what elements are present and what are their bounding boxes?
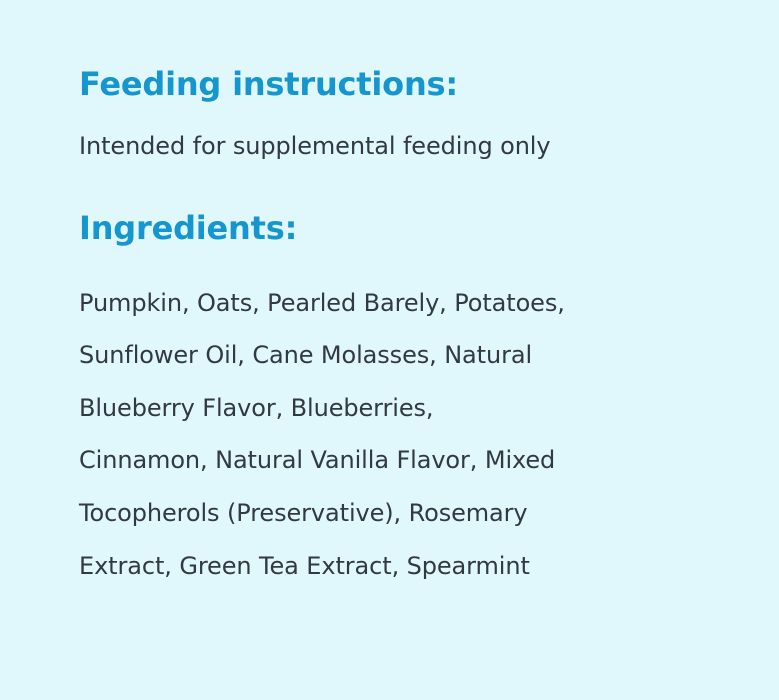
content-column: Feeding instructions: Intended for suppl… xyxy=(79,66,719,592)
ingredients-line: Sunflower Oil, Cane Molasses, Natural xyxy=(79,329,719,382)
feeding-instructions-heading: Feeding instructions: xyxy=(79,66,719,104)
feeding-instructions-text: Intended for supplemental feeding only xyxy=(79,131,719,162)
spacer-feeding-heading xyxy=(79,104,719,131)
spacer-before-ingredients xyxy=(79,162,719,210)
product-info-panel: Feeding instructions: Intended for suppl… xyxy=(0,0,779,700)
ingredients-text: Pumpkin, Oats, Pearled Barely, Potatoes,… xyxy=(79,277,719,593)
ingredients-line: Blueberry Flavor, Blueberries, xyxy=(79,382,719,435)
ingredients-line: Cinnamon, Natural Vanilla Flavor, Mixed xyxy=(79,434,719,487)
ingredients-line: Pumpkin, Oats, Pearled Barely, Potatoes, xyxy=(79,277,719,330)
spacer-ingredients-heading xyxy=(79,248,719,277)
ingredients-line: Extract, Green Tea Extract, Spearmint xyxy=(79,540,719,593)
ingredients-line: Tocopherols (Preservative), Rosemary xyxy=(79,487,719,540)
ingredients-heading: Ingredients: xyxy=(79,210,719,248)
